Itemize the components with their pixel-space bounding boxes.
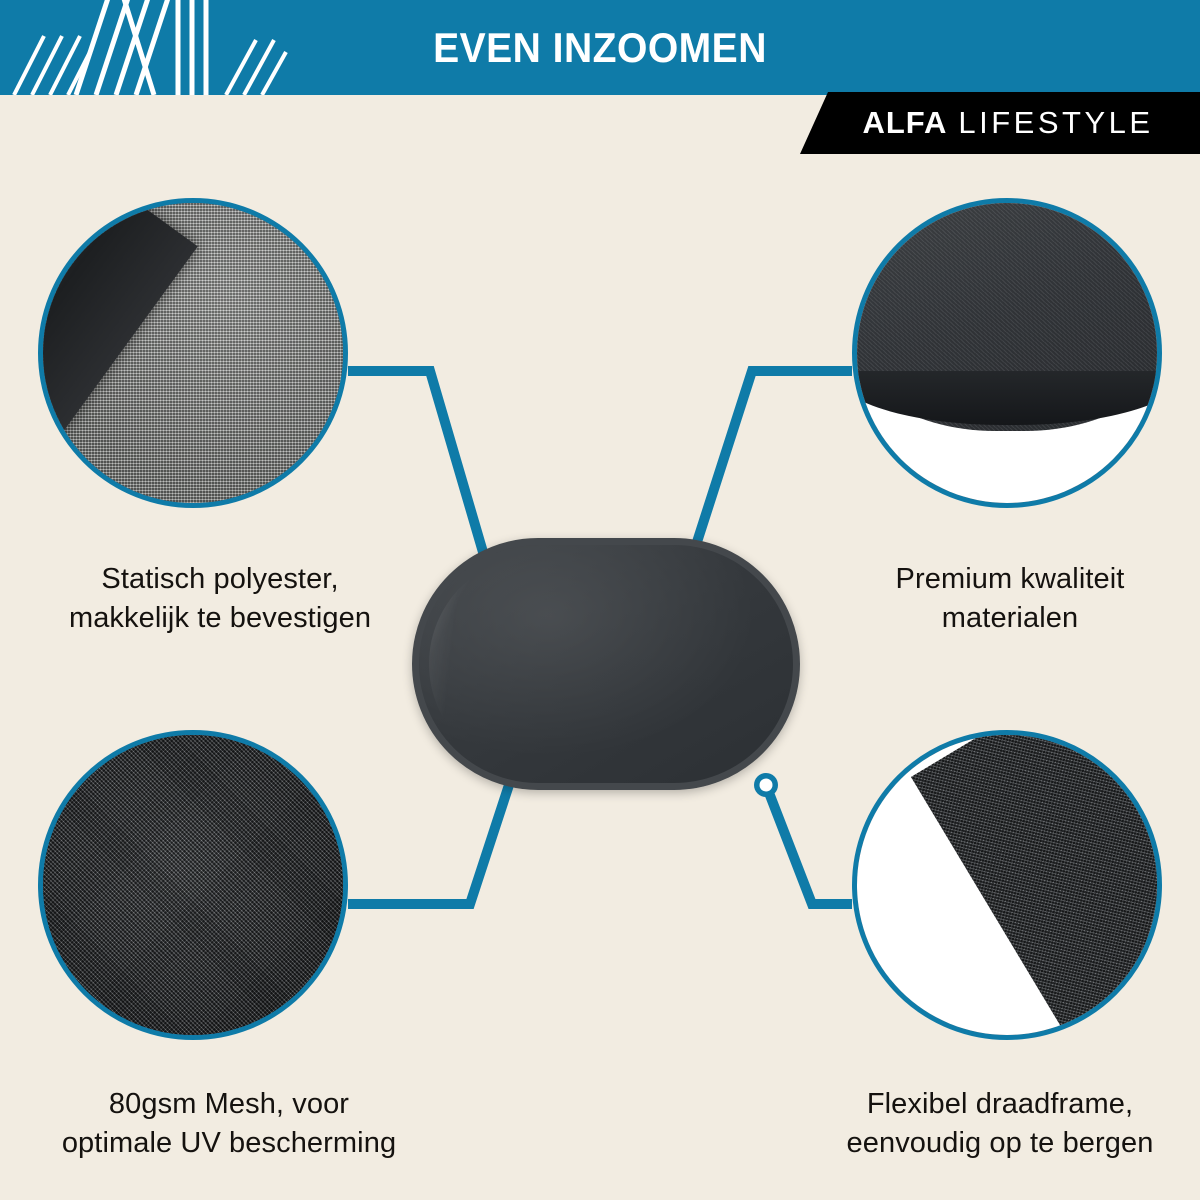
- feature-label-wireframe-line1: Flexibel draadframe,: [800, 1085, 1200, 1124]
- feature-label-premium: Premium kwaliteit materialen: [840, 560, 1180, 637]
- feature-label-wireframe-line2: eenvoudig op te bergen: [800, 1124, 1200, 1163]
- feature-image-premium: [852, 198, 1162, 508]
- feature-label-mesh: 80gsm Mesh, voor optimale UV bescherming: [14, 1085, 444, 1162]
- feature-label-mesh-line2: optimale UV bescherming: [14, 1124, 444, 1163]
- wireframe-binding-strip: [852, 730, 918, 1040]
- feature-label-premium-line2: materialen: [840, 599, 1180, 638]
- feature-label-wireframe: Flexibel draadframe, eenvoudig op te ber…: [800, 1085, 1200, 1162]
- callout-dot-wireframe: [754, 773, 778, 797]
- logo-shape: [800, 92, 1200, 154]
- wireframe-binding-texture: [857, 735, 1157, 1035]
- feature-label-polyester-line2: makkelijk te bevestigen: [20, 599, 420, 638]
- feature-image-polyester: [38, 198, 348, 508]
- feature-label-polyester: Statisch polyester, makkelijk te bevesti…: [20, 560, 420, 637]
- page-title: EVEN INZOOMEN: [42, 0, 1158, 95]
- brand-logo: ALFA LIFESTYLE: [800, 92, 1200, 154]
- feature-image-mesh: [38, 730, 348, 1040]
- premium-edge-texture: [857, 203, 1157, 503]
- connector-premium: [688, 371, 852, 570]
- premium-shade-rim: [852, 371, 1162, 425]
- header-bar: EVEN INZOOMEN: [0, 0, 1200, 95]
- feature-image-wireframe: [852, 730, 1162, 1040]
- polyester-fabric-texture: [43, 203, 343, 503]
- feature-label-polyester-line1: Statisch polyester,: [20, 560, 420, 599]
- mesh-weave-texture: [43, 735, 343, 1035]
- polyester-dark-binding: [38, 198, 198, 508]
- feature-label-mesh-line1: 80gsm Mesh, voor: [14, 1085, 444, 1124]
- infographic-root: EVEN INZOOMEN ALFA LIFESTYLE: [0, 0, 1200, 1200]
- product-sheen: [429, 555, 783, 773]
- callout-dot-wireframe-core: [760, 779, 773, 792]
- product-image-sunshade: [412, 538, 800, 790]
- wireframe-mesh-area: [911, 730, 1162, 1040]
- connector-wireframe: [766, 785, 852, 904]
- feature-label-premium-line1: Premium kwaliteit: [840, 560, 1180, 599]
